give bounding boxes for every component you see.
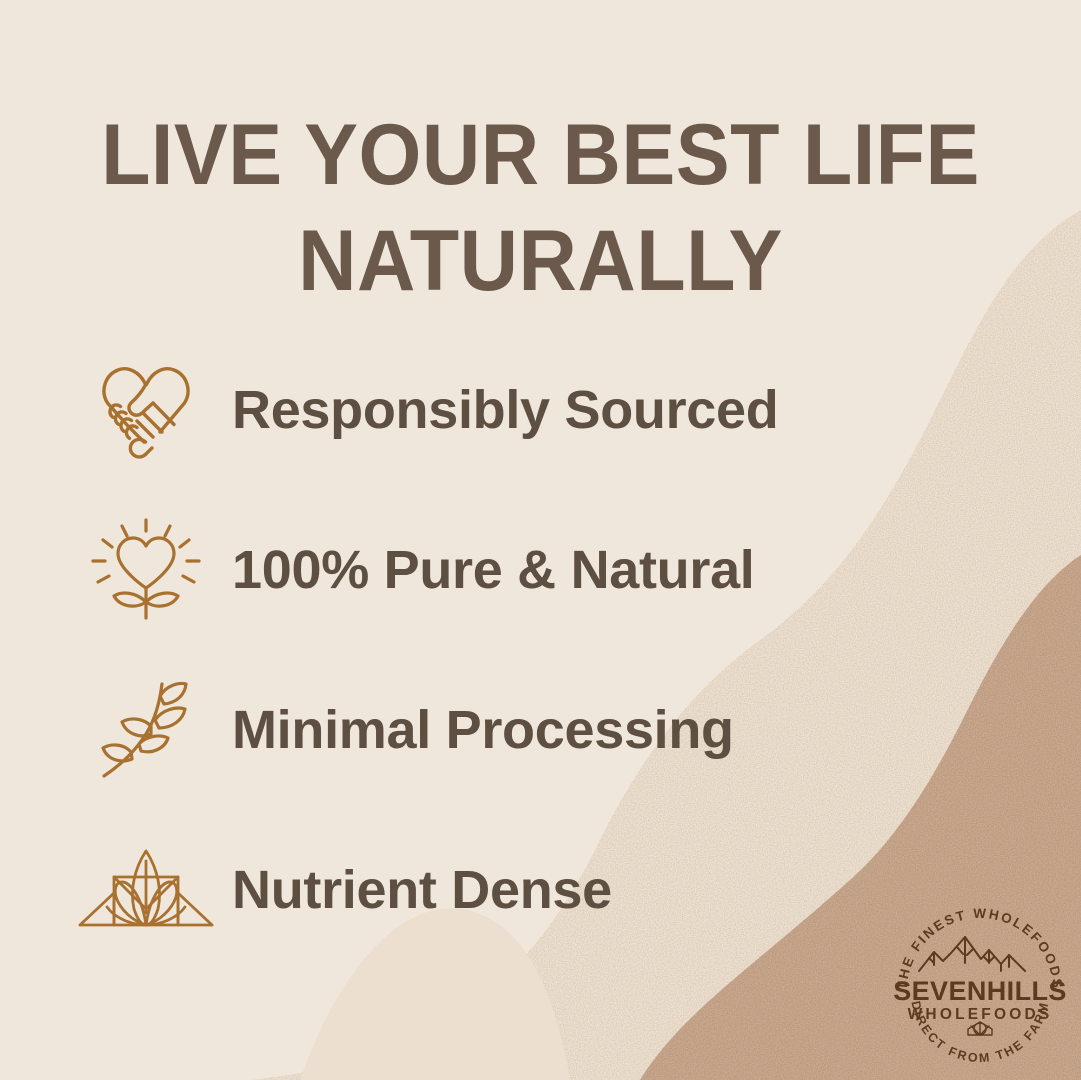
feature-item-minimal-processing: Minimal Processing bbox=[0, 650, 1081, 810]
feature-label: Responsibly Sourced bbox=[232, 381, 778, 439]
feature-label: Minimal Processing bbox=[232, 701, 734, 759]
page-title-line-1: LIVE YOUR BEST LIFE bbox=[32, 102, 1048, 208]
handshake-heart-icon bbox=[66, 350, 226, 470]
logo-brand-sub: WHOLEFOODS bbox=[908, 1006, 1053, 1023]
leaf-ornament-icon bbox=[968, 1022, 992, 1035]
feature-label: 100% Pure & Natural bbox=[232, 541, 755, 599]
sevenhills-logo: THE FINEST WHOLEFOODS SEVENHILLS WHOLEFO… bbox=[885, 893, 1075, 1069]
feature-list: Responsibly Sourced bbox=[0, 330, 1081, 970]
heart-flower-sun-icon bbox=[66, 510, 226, 630]
feature-item-responsibly-sourced: Responsibly Sourced bbox=[0, 330, 1081, 490]
mountain-range-icon bbox=[919, 937, 1025, 971]
page-title: LIVE YOUR BEST LIFE NATURALLY bbox=[32, 102, 1048, 314]
promo-poster: LIVE YOUR BEST LIFE NATURALLY bbox=[0, 0, 1081, 1080]
leafy-branch-icon bbox=[66, 670, 226, 790]
lotus-mandala-icon bbox=[66, 830, 226, 950]
feature-label: Nutrient Dense bbox=[232, 861, 612, 919]
page-title-line-2: NATURALLY bbox=[32, 208, 1048, 314]
feature-item-pure-natural: 100% Pure & Natural bbox=[0, 490, 1081, 650]
